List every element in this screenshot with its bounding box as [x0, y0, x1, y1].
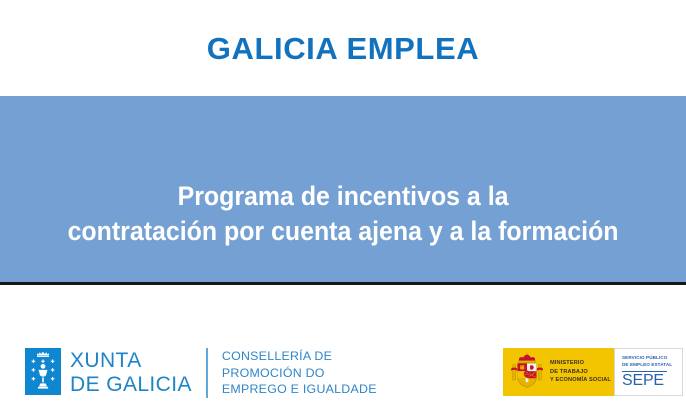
sepe-subtitle-line-1: SERVICIO PÚBLICO — [622, 355, 682, 362]
gobierno-de-espana-logo: MINISTERIO DE TRABAJO Y ECONOMÍA SOCIAL … — [503, 348, 683, 396]
sepe-subtitle-line-2: DE EMPLEO ESTATAL — [622, 362, 682, 369]
xunta-de-galicia-logo: XUNTA DE GALICIA CONSELLERÍA DE PROMOCIÓ… — [25, 348, 377, 398]
spain-coat-of-arms-icon — [510, 351, 544, 394]
sepe-acronym: SEPE — [622, 373, 682, 389]
logo-divider — [206, 348, 208, 398]
ministerio-block: MINISTERIO DE TRABAJO Y ECONOMÍA SOCIAL — [503, 348, 614, 396]
title-area: GALICIA EMPLEA — [0, 0, 686, 96]
banner-line-1: Programa de incentivos a la — [68, 179, 619, 214]
xunta-coat-of-arms-icon — [25, 348, 61, 395]
ministerio-wordmark: MINISTERIO DE TRABAJO Y ECONOMÍA SOCIAL — [550, 359, 611, 385]
xunta-wordmark-line-2: DE GALICIA — [70, 373, 192, 397]
xunta-wordmark: XUNTA DE GALICIA — [70, 348, 192, 398]
xunta-wordmark-line-1: XUNTA — [70, 349, 192, 373]
ministerio-line-2: DE TRABAJO — [550, 368, 611, 377]
footer-logos: XUNTA DE GALICIA CONSELLERÍA DE PROMOCIÓ… — [0, 285, 686, 410]
banner-line-2: contratación por cuenta ajena y a la for… — [68, 214, 619, 249]
banner-text-block: Programa de incentivos a la contratación… — [50, 179, 636, 249]
conselleria-line-2: PROMOCIÓN DO — [222, 365, 377, 382]
conselleria-wordmark: CONSELLERÍA DE PROMOCIÓN DO EMPREGO E IG… — [222, 348, 377, 398]
conselleria-line-1: CONSELLERÍA DE — [222, 348, 377, 365]
sepe-block: SERVICIO PÚBLICO DE EMPLEO ESTATAL SEPE — [614, 348, 683, 396]
conselleria-line-3: EMPREGO E IGUALDADE — [222, 381, 377, 398]
program-banner: Programa de incentivos a la contratación… — [0, 96, 686, 282]
ministerio-line-3: Y ECONOMÍA SOCIAL — [550, 376, 611, 385]
page-title: GALICIA EMPLEA — [207, 33, 479, 64]
ministerio-line-1: MINISTERIO — [550, 359, 611, 368]
